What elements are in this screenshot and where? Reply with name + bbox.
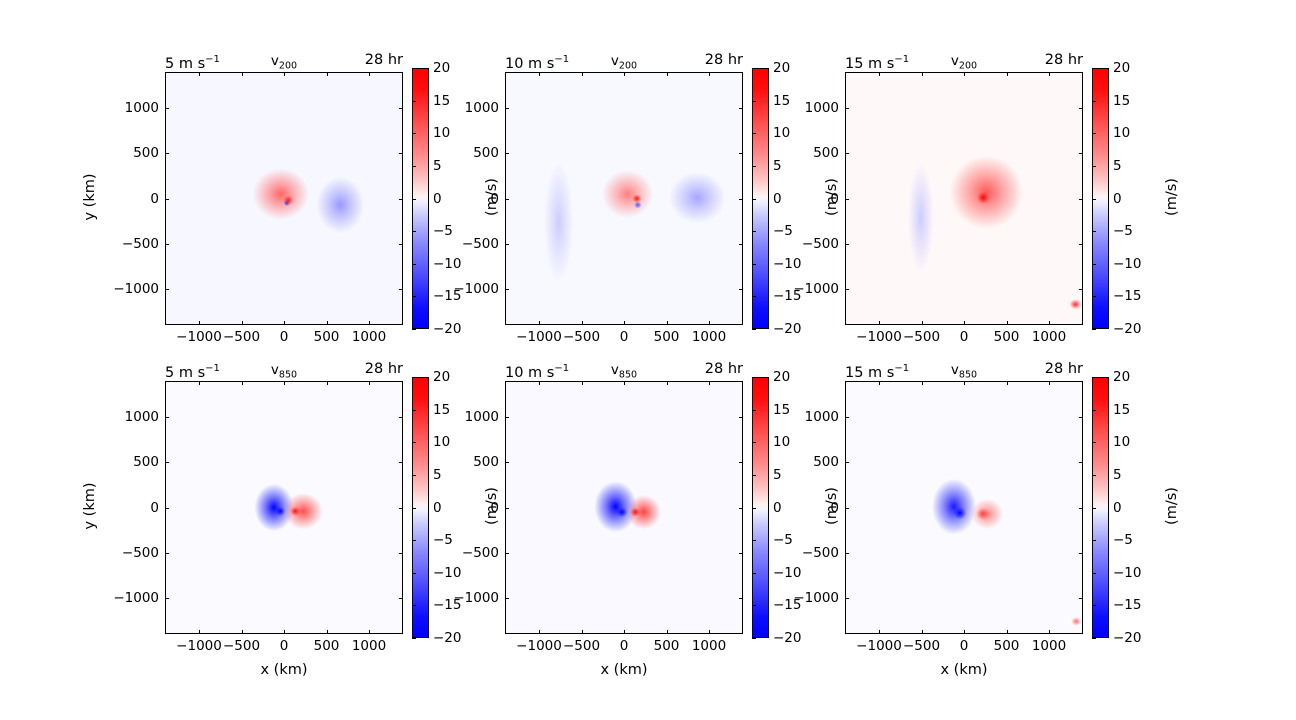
colorbar-title-r2c3: (m/s) bbox=[1164, 461, 1180, 551]
panel-title-time-r2c3: 28 hr bbox=[1021, 360, 1083, 378]
colorbar-tick bbox=[1092, 410, 1096, 411]
ytick-label: 500 bbox=[773, 454, 839, 470]
ytick-mark bbox=[1079, 508, 1083, 509]
ytick-mark bbox=[845, 508, 849, 509]
panel-title-shear-r2c3: 15 m s−1 bbox=[845, 360, 909, 378]
plot-area-r2c3[interactable] bbox=[845, 381, 1083, 634]
figure-canvas: 5 m s−1v20028 hr10005000−500−1000−1000−5… bbox=[0, 0, 1296, 720]
variable-symbol: v bbox=[951, 362, 959, 378]
x-axis-label-r2c3: x (km) bbox=[940, 662, 987, 678]
ytick-label: −500 bbox=[773, 545, 839, 561]
colorbar-tick-label: 0 bbox=[1113, 500, 1122, 516]
xtick-mark bbox=[1007, 630, 1008, 634]
colorbar-tick-label: 5 bbox=[1113, 467, 1122, 483]
colorbar-tick-label: 10 bbox=[1113, 434, 1130, 450]
xtick-label: 1000 bbox=[1032, 638, 1066, 654]
xtick-mark bbox=[964, 630, 965, 634]
colorbar-tick bbox=[1092, 442, 1096, 443]
ytick-mark bbox=[845, 553, 849, 554]
panel-title-variable-r2c3: v850 bbox=[951, 361, 977, 379]
xtick-label: 0 bbox=[960, 638, 969, 654]
colorbar-tick bbox=[1092, 605, 1096, 606]
colorbar-tick bbox=[1092, 540, 1096, 541]
xtick-mark bbox=[922, 630, 923, 634]
colorbar-tick-label: 20 bbox=[1113, 369, 1130, 385]
ytick-mark bbox=[1079, 598, 1083, 599]
xtick-mark bbox=[964, 381, 965, 385]
colorbar-tick-label: −20 bbox=[1113, 630, 1142, 646]
ytick-mark bbox=[1079, 553, 1083, 554]
xtick-mark bbox=[1007, 381, 1008, 385]
xtick-label: −1000 bbox=[856, 638, 902, 654]
xtick-label: −500 bbox=[903, 638, 940, 654]
panel-r2c3: 15 m s−1v85028 hr10005000−500−1000−1000−… bbox=[0, 0, 1296, 720]
xtick-mark bbox=[879, 381, 880, 385]
ytick-label: −1000 bbox=[773, 590, 839, 606]
colorbar-tick bbox=[1092, 573, 1096, 574]
shear-exponent: −1 bbox=[894, 363, 909, 374]
variable-level: 850 bbox=[959, 370, 977, 381]
ytick-mark bbox=[845, 417, 849, 418]
colorbar-tick bbox=[1092, 638, 1096, 639]
ytick-mark bbox=[1079, 462, 1083, 463]
colorbar-tick bbox=[1092, 475, 1096, 476]
shear-value: 15 m s bbox=[845, 365, 894, 381]
colorbar-tick-label: 15 bbox=[1113, 402, 1130, 418]
colorbar-tick bbox=[1092, 377, 1096, 378]
ytick-label: 0 bbox=[773, 500, 839, 516]
xtick-mark bbox=[1049, 381, 1050, 385]
colorbar-tick bbox=[1092, 508, 1096, 509]
ytick-mark bbox=[1079, 417, 1083, 418]
colorbar-tick-label: −5 bbox=[1113, 532, 1133, 548]
ytick-mark bbox=[845, 598, 849, 599]
xtick-label: 500 bbox=[994, 638, 1020, 654]
ytick-mark bbox=[845, 462, 849, 463]
colorbar-tick-label: −10 bbox=[1113, 565, 1142, 581]
xtick-mark bbox=[879, 630, 880, 634]
contour-field-r2c3 bbox=[846, 382, 1082, 633]
ytick-label: 1000 bbox=[773, 409, 839, 425]
xtick-mark bbox=[922, 381, 923, 385]
xtick-mark bbox=[1049, 630, 1050, 634]
colorbar-tick-label: −15 bbox=[1113, 597, 1142, 613]
